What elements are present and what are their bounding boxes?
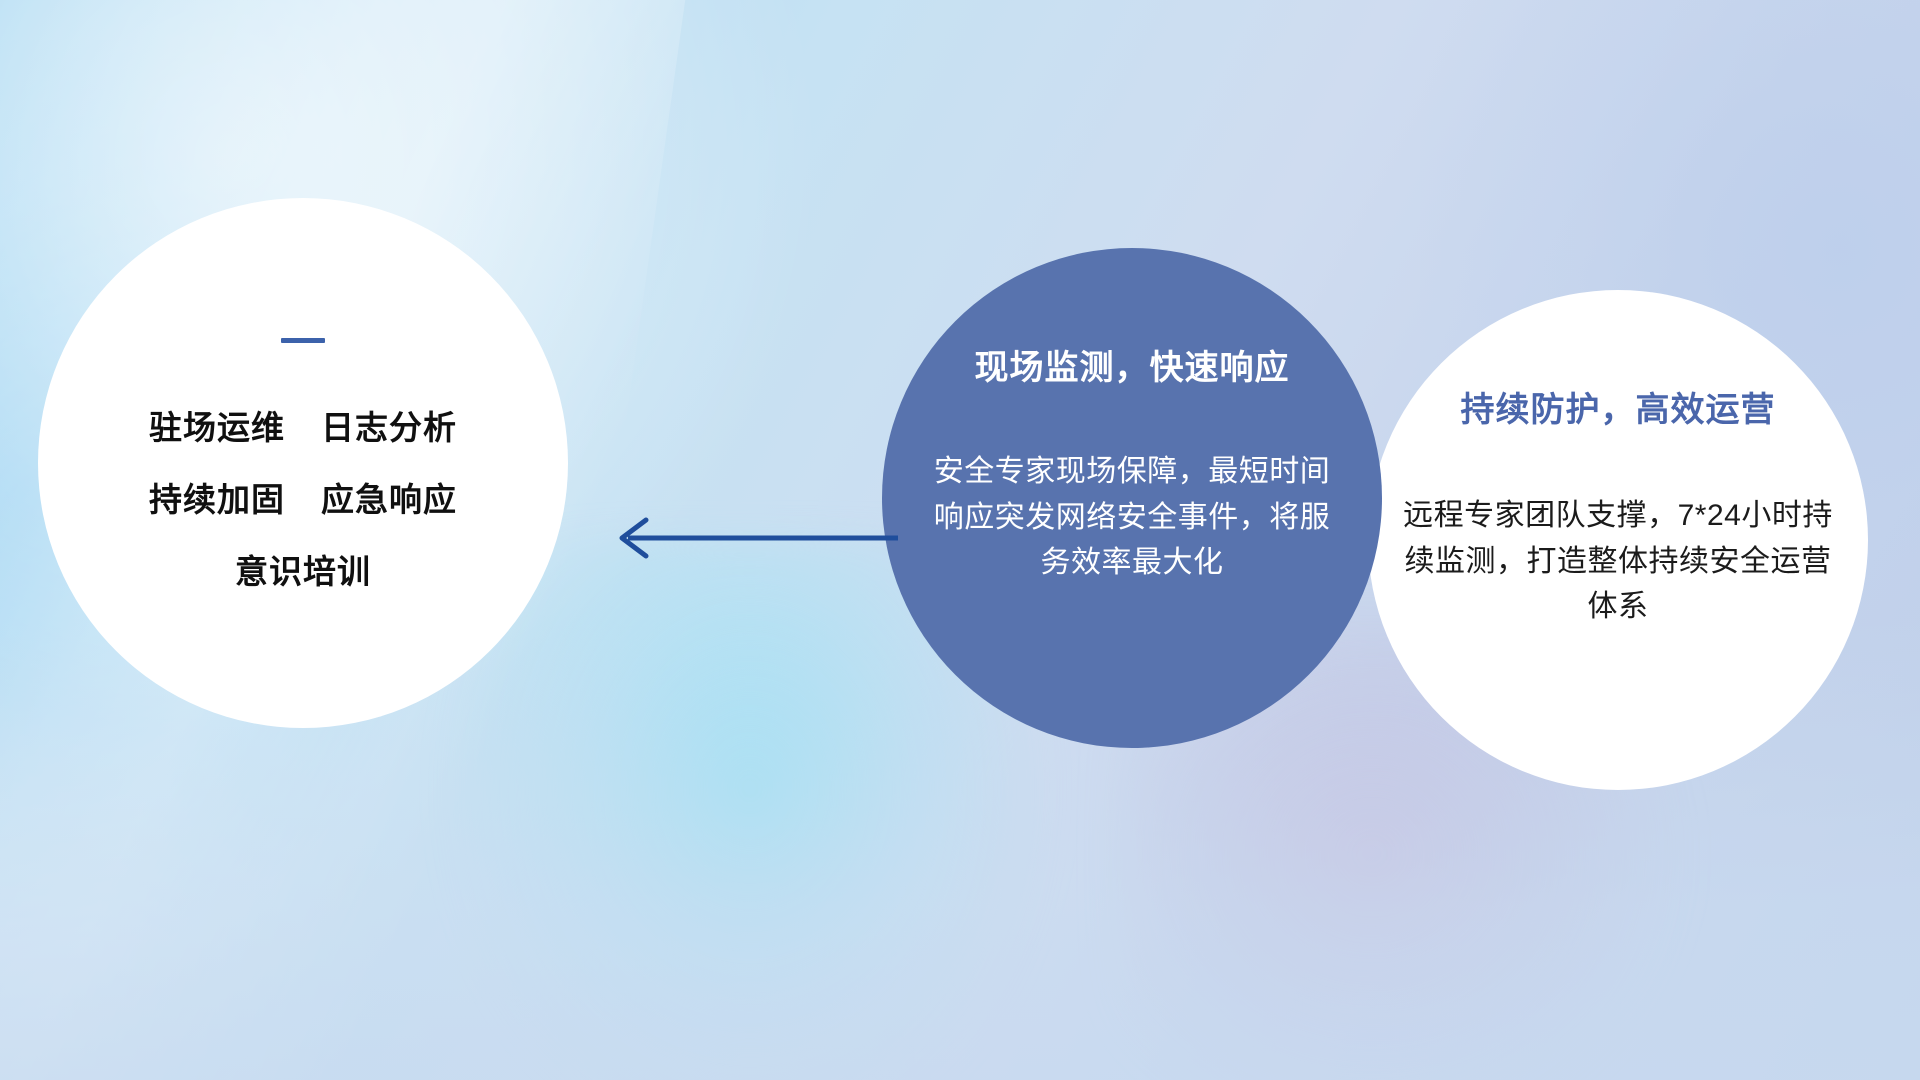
capabilities-circle[interactable]: 驻场运维 日志分析 持续加固 应急响应 意识培训: [38, 198, 568, 728]
keyword-row: 持续加固 应急响应: [88, 473, 518, 521]
continuous-operation-body: 远程专家团队支撑，7*24小时持续监测，打造整体持续安全运营体系: [1403, 493, 1833, 630]
onsite-monitoring-headline: 现场监测，快速响应: [932, 340, 1332, 389]
onsite-monitoring-content: 现场监测，快速响应 安全专家现场保障，最短时间响应突发网络安全事件，将服务效率最…: [932, 340, 1332, 586]
keyword-item: 应急响应: [321, 473, 457, 521]
keyword-row: 驻场运维 日志分析: [88, 401, 518, 449]
continuous-operation-content: 持续防护，高效运营 远程专家团队支撑，7*24小时持续监测，打造整体持续安全运营…: [1403, 290, 1833, 630]
keyword-item: 日志分析: [321, 401, 457, 449]
keyword-item: 持续加固: [149, 473, 285, 521]
slide-canvas: 驻场运维 日志分析 持续加固 应急响应 意识培训 持续防护，高效运营 远程专家团…: [0, 0, 1920, 1080]
keyword-item: 意识培训: [235, 545, 371, 593]
continuous-operation-headline: 持续防护，高效运营: [1403, 382, 1833, 431]
onsite-monitoring-body: 安全专家现场保障，最短时间响应突发网络安全事件，将服务效率最大化: [932, 449, 1332, 586]
flow-arrow-left-icon: [600, 512, 900, 564]
onsite-monitoring-circle[interactable]: 现场监测，快速响应 安全专家现场保障，最短时间响应突发网络安全事件，将服务效率最…: [882, 248, 1382, 748]
continuous-operation-circle[interactable]: 持续防护，高效运营 远程专家团队支撑，7*24小时持续监测，打造整体持续安全运营…: [1368, 290, 1868, 790]
keyword-item: 驻场运维: [149, 401, 285, 449]
capabilities-content: 驻场运维 日志分析 持续加固 应急响应 意识培训: [88, 334, 518, 593]
divider-dash-icon: [281, 338, 325, 343]
keyword-row: 意识培训: [88, 545, 518, 593]
